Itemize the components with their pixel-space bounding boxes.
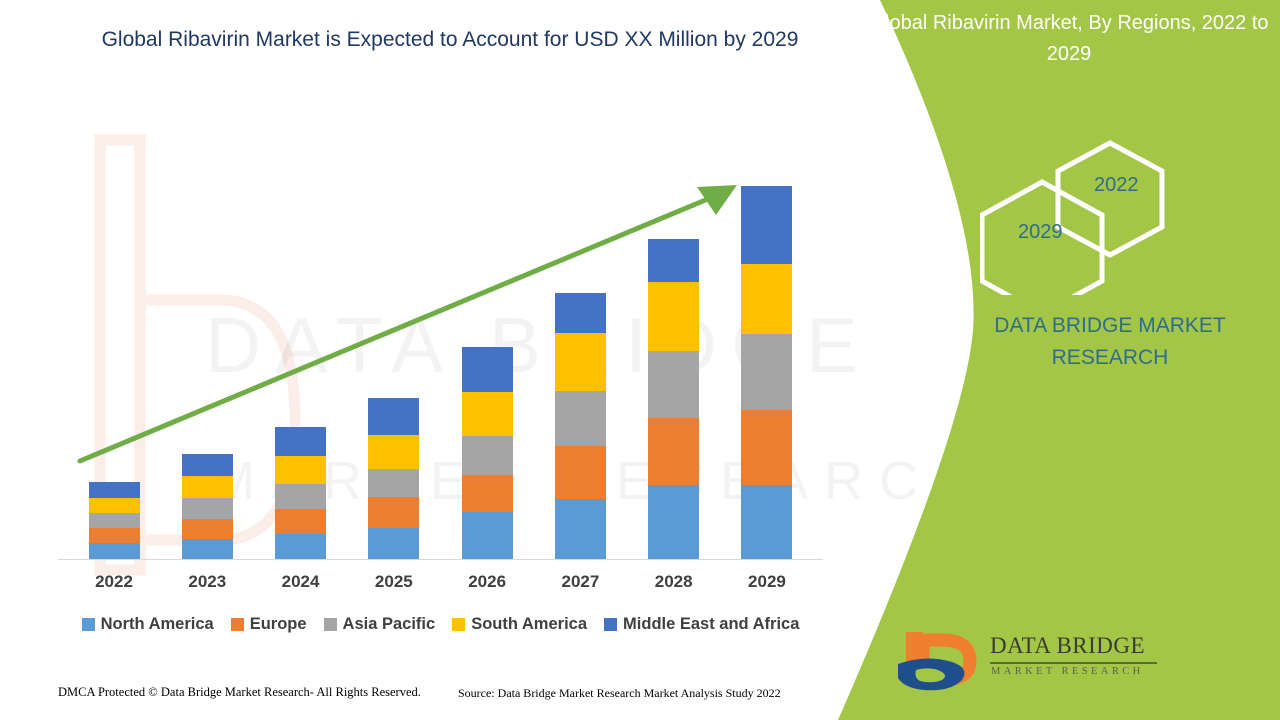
bar-segment [182,476,233,498]
bar-stack-2029 [741,186,792,559]
bar-stack-2027 [555,293,606,559]
copyright-notice: DMCA Protected © Data Bridge Market Rese… [58,685,421,700]
legend-label: Europe [250,615,307,634]
bar-segment [462,347,513,392]
bar-column [259,170,343,559]
x-axis-label-2027: 2027 [538,572,622,592]
legend-item[interactable]: North America [82,615,214,634]
bar-segment [741,334,792,410]
bar-segment [462,512,513,559]
x-axis-label-2028: 2028 [632,572,716,592]
bar-segment [182,498,233,519]
bar-segment [462,392,513,436]
bar-stack-2028 [648,239,699,559]
hexagon-2022-label: 2022 [1094,174,1139,197]
legend-label: Asia Pacific [343,615,436,634]
legend-item[interactable]: Middle East and Africa [604,615,799,634]
bar-segment [555,446,606,499]
bar-segment [275,509,326,534]
legend-item[interactable]: Europe [231,615,307,634]
panel-title: Global Ribavirin Market, By Regions, 202… [865,8,1273,70]
bar-column [725,170,809,559]
brand-panel: Global Ribavirin Market, By Regions, 202… [830,0,1280,720]
bar-segment [462,475,513,512]
bar-segment [89,528,140,543]
bar-segment [648,485,699,559]
bar-segment [368,497,419,528]
legend-item[interactable]: Asia Pacific [324,615,436,634]
logo-primary-text: DATA BRIDGE [990,633,1145,659]
hexagon-2029-label: 2029 [1018,221,1063,244]
bar-segment [89,498,140,513]
x-axis-label-2023: 2023 [165,572,249,592]
bar-column [352,170,436,559]
bar-segment [182,519,233,539]
bar-segment [555,333,606,391]
legend-swatch-icon [231,618,244,631]
bar-segment [368,469,419,497]
bar-segment [368,435,419,469]
bar-segment [275,534,326,559]
bar-segment [648,239,699,282]
bar-column [445,170,529,559]
brand-name: DATA BRIDGE MARKET RESEARCH [960,310,1260,374]
bar-column [165,170,249,559]
chart-title: Global Ribavirin Market is Expected to A… [60,24,840,56]
legend-swatch-icon [82,618,95,631]
legend-swatch-icon [452,618,465,631]
x-axis-label-2024: 2024 [259,572,343,592]
bar-stack-2023 [182,454,233,559]
bar-segment [555,293,606,333]
x-axis-label-2029: 2029 [725,572,809,592]
chart-legend: North AmericaEuropeAsia PacificSouth Ame… [58,615,823,634]
bar-segment [368,398,419,435]
bar-stack-2022 [89,482,140,559]
bar-segment [89,482,140,498]
bar-column [632,170,716,559]
legend-label: North America [101,615,214,634]
x-axis-line [58,559,823,560]
x-axis-labels: 20222023202420252026202720282029 [58,572,823,592]
bar-group [58,170,823,559]
x-axis-label-2025: 2025 [352,572,436,592]
bar-segment [741,264,792,334]
bar-segment [555,391,606,446]
bar-stack-2024 [275,427,326,559]
legend-label: Middle East and Africa [623,615,799,634]
bar-segment [462,436,513,475]
bar-segment [555,499,606,559]
bar-segment [275,484,326,509]
bar-segment [648,282,699,351]
bar-segment [648,418,699,485]
logo-divider [990,662,1157,664]
bar-segment [89,543,140,559]
chart-plot-area [58,170,823,560]
bar-column [538,170,622,559]
bar-segment [648,351,699,418]
bar-stack-2026 [462,347,513,559]
company-logo: DATA BRIDGE MARKET RESEARCH [890,628,1160,694]
bar-segment [741,410,792,485]
source-note: Source: Data Bridge Market Research Mark… [458,686,781,701]
bar-segment [89,513,140,528]
x-axis-label-2022: 2022 [72,572,156,592]
legend-item[interactable]: South America [452,615,587,634]
bar-column [72,170,156,559]
infographic-canvas: DATA BRIDGE MARKET RESEARCH Global Ribav… [0,0,1280,720]
bar-segment [275,456,326,484]
legend-swatch-icon [604,618,617,631]
bar-stack-2025 [368,398,419,559]
bar-segment [741,485,792,559]
hexagon-badges [980,140,1210,295]
x-axis-label-2026: 2026 [445,572,529,592]
bar-segment [741,186,792,264]
bar-segment [182,539,233,559]
bar-segment [275,427,326,456]
bar-segment [182,454,233,476]
legend-swatch-icon [324,618,337,631]
logo-secondary-text: MARKET RESEARCH [991,666,1144,677]
bar-segment [368,528,419,559]
legend-label: South America [471,615,587,634]
